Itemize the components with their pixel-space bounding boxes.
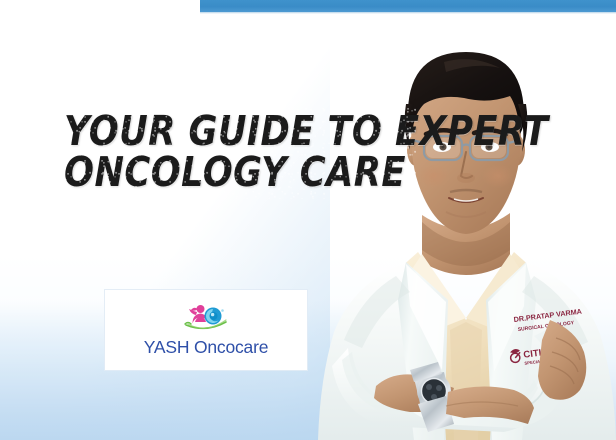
promo-banner: DR.PRATAP VARMA SURGICAL ONCOLOGY CITIZE… xyxy=(0,0,616,440)
headline-line-1: YOUR GUIDE TO EXPERT xyxy=(64,112,384,151)
headline-line-2: ONCOLOGY CARE xyxy=(64,153,384,192)
brand-logo-card: YASH Oncocare xyxy=(105,290,307,370)
yash-oncocare-logo-icon xyxy=(179,302,233,336)
doctor-photo: DR.PRATAP VARMA SURGICAL ONCOLOGY CITIZE… xyxy=(318,0,616,440)
brand-name: YASH Oncocare xyxy=(144,337,269,358)
page-title: YOUR GUIDE TO EXPERT ONCOLOGY CARE xyxy=(38,112,410,193)
